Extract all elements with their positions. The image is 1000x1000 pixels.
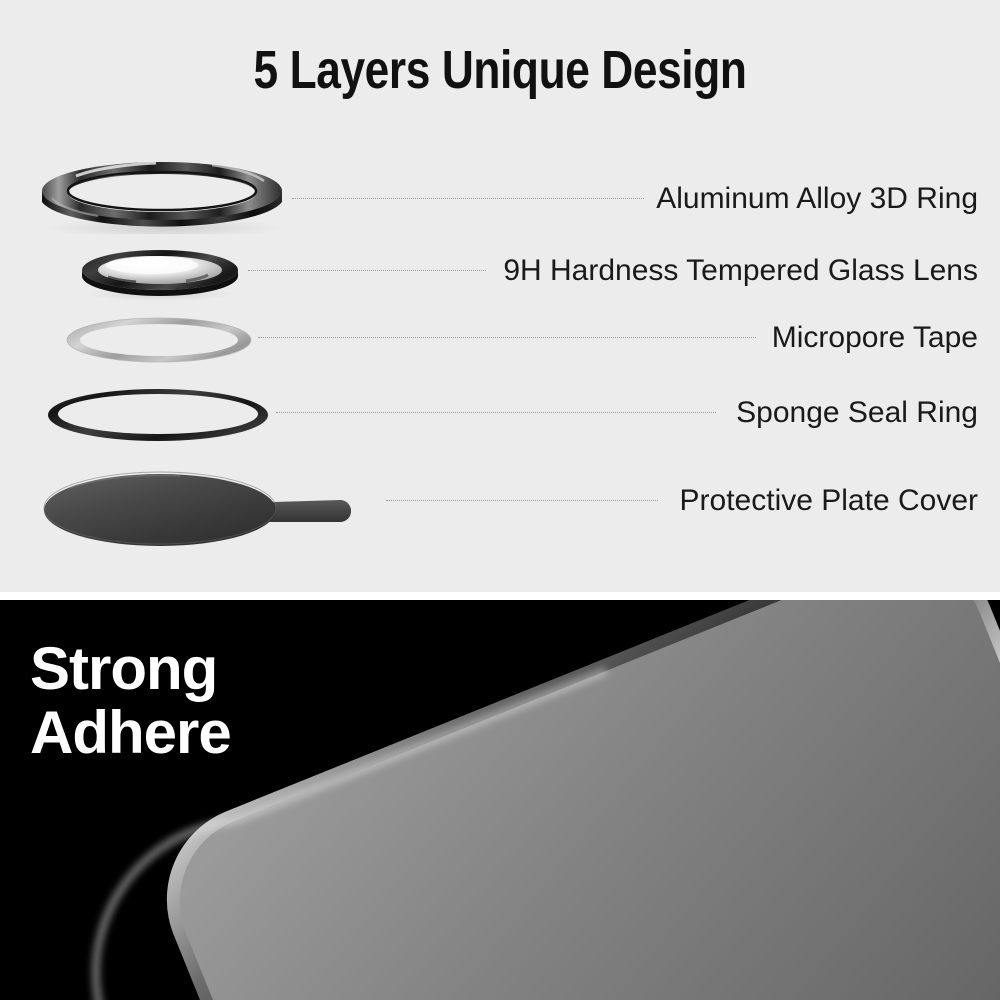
layer-icon-tempered-glass-lens (78, 244, 242, 300)
bottom-headline: Strong Adhere (30, 637, 231, 765)
layer-icon-protective-plate-cover (40, 466, 390, 550)
leader-line-layer-5 (386, 500, 658, 501)
leader-line-layer-1 (292, 198, 644, 199)
panel-divider (0, 592, 1000, 600)
layers-diagram-panel: 5 Layers Unique Design (0, 0, 1000, 592)
leader-line-layer-3 (258, 337, 756, 338)
layer-label-aluminum-alloy-3d-ring: Aluminum Alloy 3D Ring (656, 182, 978, 216)
headline-line-2: Adhere (30, 701, 231, 765)
layer-icon-micropore-tape (63, 315, 255, 365)
layer-icon-aluminum-alloy-3d-ring (36, 148, 288, 234)
strong-adhere-panel: Strong Adhere (0, 600, 1000, 1000)
layer-icon-sponge-seal-ring (44, 386, 272, 444)
leader-line-layer-4 (276, 412, 716, 413)
page-title: 5 Layers Unique Design (90, 39, 910, 101)
layer-label-protective-plate-cover: Protective Plate Cover (680, 484, 978, 518)
layer-label-micropore-tape: Micropore Tape (772, 321, 978, 355)
layer-label-tempered-glass-lens: 9H Hardness Tempered Glass Lens (503, 254, 978, 288)
leader-line-layer-2 (248, 270, 486, 271)
headline-line-1: Strong (30, 637, 231, 701)
layer-label-sponge-seal-ring: Sponge Seal Ring (736, 396, 978, 430)
